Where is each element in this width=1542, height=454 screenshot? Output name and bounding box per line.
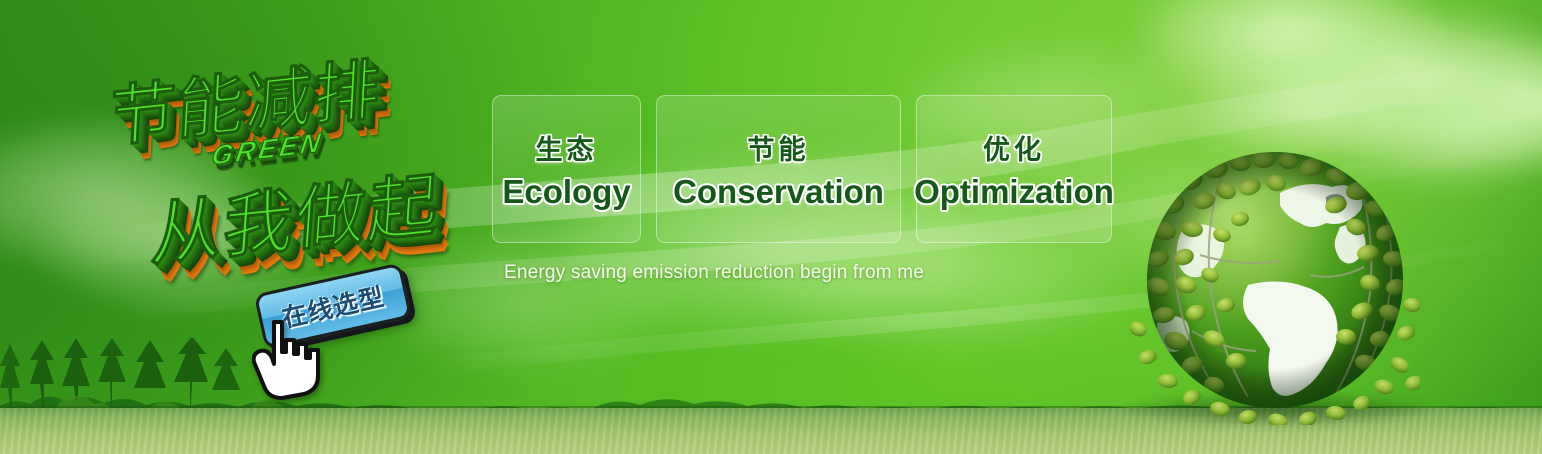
hand-pointer-icon [252, 318, 324, 400]
feature-card-optimization[interactable]: 优化 Optimization [916, 95, 1112, 243]
feature-card-cn-label: 节能 [748, 128, 810, 167]
feature-card-en-label: Ecology [502, 173, 630, 211]
feature-card-conservation[interactable]: 节能 Conservation [656, 95, 901, 243]
leafy-earth-globe-icon [1130, 135, 1420, 425]
feature-card-cn-label: 优化 [983, 128, 1045, 167]
banner-tagline: Energy saving emission reduction begin f… [504, 262, 924, 284]
feature-card-ecology[interactable]: 生态 Ecology [492, 95, 641, 243]
feature-card-en-label: Conservation [673, 173, 884, 211]
feature-card-en-label: Optimization [914, 173, 1114, 211]
headline-line-bottom: 从我做起 [148, 148, 443, 280]
feature-card-list: 生态 Ecology 节能 Conservation 优化 Optimizati… [492, 95, 1112, 243]
eco-hero-banner: 节能减排 GREEN 从我做起 在线选型 生态 Ecology 节能 Conse… [0, 0, 1542, 454]
feature-card-cn-label: 生态 [536, 128, 598, 167]
headline-3d: 节能减排 GREEN 从我做起 [96, 36, 496, 286]
